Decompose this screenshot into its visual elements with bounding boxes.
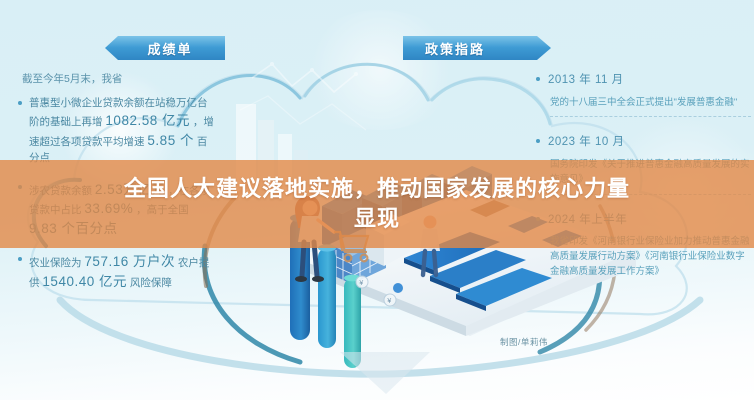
timeline-item-1: 2013 年 11 月 党的十八届三中全会正式提出"发展普惠金融" — [536, 72, 751, 117]
stat-3-part-3: 1540.40 亿元 — [42, 274, 127, 289]
svg-text:¥: ¥ — [359, 280, 363, 287]
headline-overlay-band: 全国人大建议落地实施，推动国家发展的核心力量 显现 — [0, 160, 754, 248]
headline-line-2: 显现 — [30, 204, 724, 234]
left-panel-intro: 截至今年5月末，我省 — [22, 72, 214, 87]
timeline-1-body: 党的十八届三中全会正式提出"发展普惠金融" — [536, 96, 751, 111]
stat-item-3: 农业保险为 757.16 万户次 农户提供 1540.40 亿元 风险保障 — [18, 252, 214, 291]
timeline-divider — [550, 116, 751, 117]
timeline-1-date: 2013 年 11 月 — [536, 72, 751, 89]
right-section-banner: 政策指路 — [403, 36, 551, 60]
stat-1-part-1: 1082.58 亿元 — [105, 113, 190, 128]
stat-1-part-3: 5.85 个 — [147, 133, 194, 148]
right-banner-label: 政策指路 — [425, 39, 485, 58]
stat-item-1: 普惠型小微企业贷款余额在站稳万亿台阶的基础上再增 1082.58 亿元 ，增速超… — [18, 96, 214, 166]
headline-line-1: 全国人大建议落地实施，推动国家发展的核心力量 — [30, 174, 724, 204]
stat-3-part-1: 757.16 万户次 — [84, 254, 175, 269]
svg-text:¥: ¥ — [387, 298, 391, 305]
line-graph-icon — [240, 62, 366, 130]
left-section-banner: 成绩单 — [105, 36, 225, 60]
stat-3-part-4: 风险保障 — [130, 277, 172, 289]
stat-3-part-0: 农业保险为 — [29, 257, 82, 269]
infographic-canvas: ¥ ¥ — [0, 0, 754, 400]
chart-credit: 制图/单莉伟 — [500, 336, 548, 348]
timeline-2-date: 2023 年 10 月 — [536, 134, 751, 151]
left-banner-label: 成绩单 — [147, 39, 192, 58]
chevron-decoration — [340, 352, 430, 394]
